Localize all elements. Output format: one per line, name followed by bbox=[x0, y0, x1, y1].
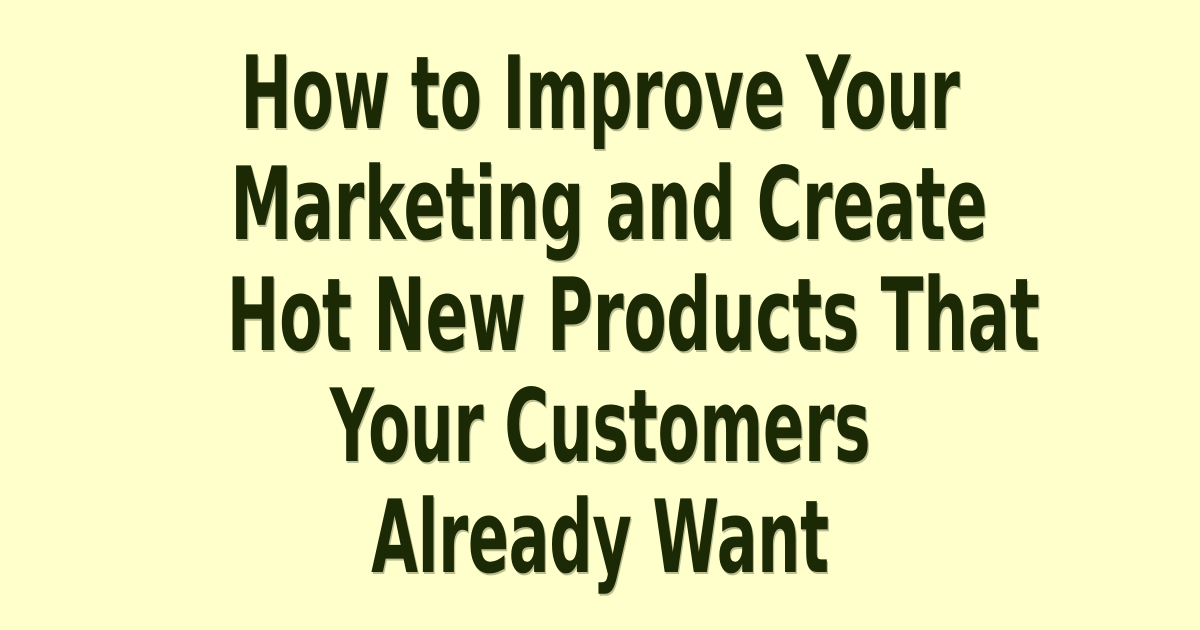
headline-line-1: How to Improve Your bbox=[236, 38, 964, 149]
poster-canvas: How to Improve Your Marketing and Create… bbox=[0, 0, 1200, 630]
headline-line-5: Already Want bbox=[240, 482, 960, 593]
headline-line-2: Marketing and Create bbox=[230, 149, 969, 260]
headline-line-4: Your Customers bbox=[236, 371, 964, 482]
headline-line-3: Hot New Products That bbox=[227, 260, 973, 371]
page-title: How to Improve Your Marketing and Create… bbox=[0, 38, 1200, 593]
